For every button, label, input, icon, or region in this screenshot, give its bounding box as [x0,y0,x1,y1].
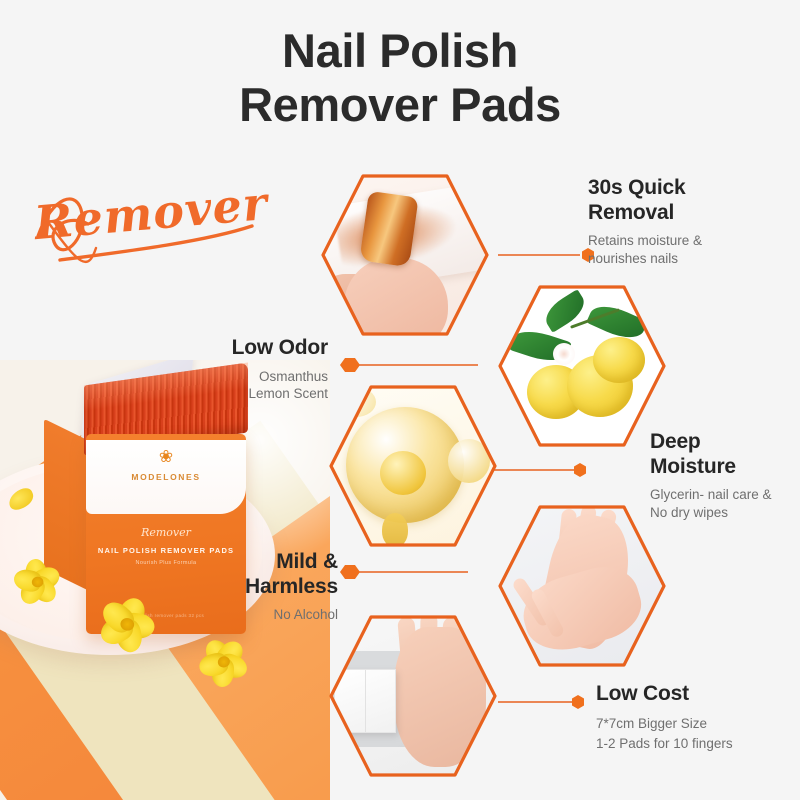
feature-heading: Low Odor [168,336,328,361]
feature-heading: Low Cost [596,682,800,707]
yellow-flower [6,552,68,610]
brand-logo-icon: ❀ [86,448,246,465]
feature-image-nail-wipe [320,170,490,340]
script-wordmark: Remover [26,178,286,274]
page-title-line2: Remover Pads [0,78,800,132]
feature-heading: Mild & Harmless [178,550,338,599]
feature-description: Osmanthus Lemon Scent [168,368,328,403]
feature-image-oil-serum [328,381,498,551]
feature-image-hands [497,501,667,671]
feature-block-low-odor: Low Odor Osmanthus Lemon Scent [168,336,328,403]
page-title: Nail Polish Remover Pads [0,24,800,131]
feature-block-low-cost: Low Cost 7*7cm Bigger Size 1-2 Pads for … [596,682,800,755]
feature-image-palm-pad [328,611,498,781]
feature-block-mild-harmless: Mild & Harmless No Alcohol [178,550,338,624]
feature-description: No Alcohol [178,606,338,624]
brand-name: MODELONES [86,472,246,482]
feature-description: 7*7cm Bigger Size 1-2 Pads for 10 finger… [596,714,800,756]
infographic-canvas: ❀ MODELONES Remover NAIL POLISH REMOVER … [0,0,800,800]
feature-heading: Deep Moisture [650,430,800,479]
feature-heading: 30s Quick Removal [588,176,798,225]
page-title-line1: Nail Polish [282,24,518,77]
feature-description: Glycerin- nail care & No dry wipes [650,486,800,521]
feature-description: Retains moisture & nourishes nails [588,232,798,267]
feature-image-lemon [497,281,667,451]
feature-block-deep-moisture: Deep Moisture Glycerin- nail care & No d… [650,430,800,521]
feature-block-quick-removal: 30s Quick Removal Retains moisture & nou… [588,176,798,267]
box-script-label: Remover [86,526,246,539]
